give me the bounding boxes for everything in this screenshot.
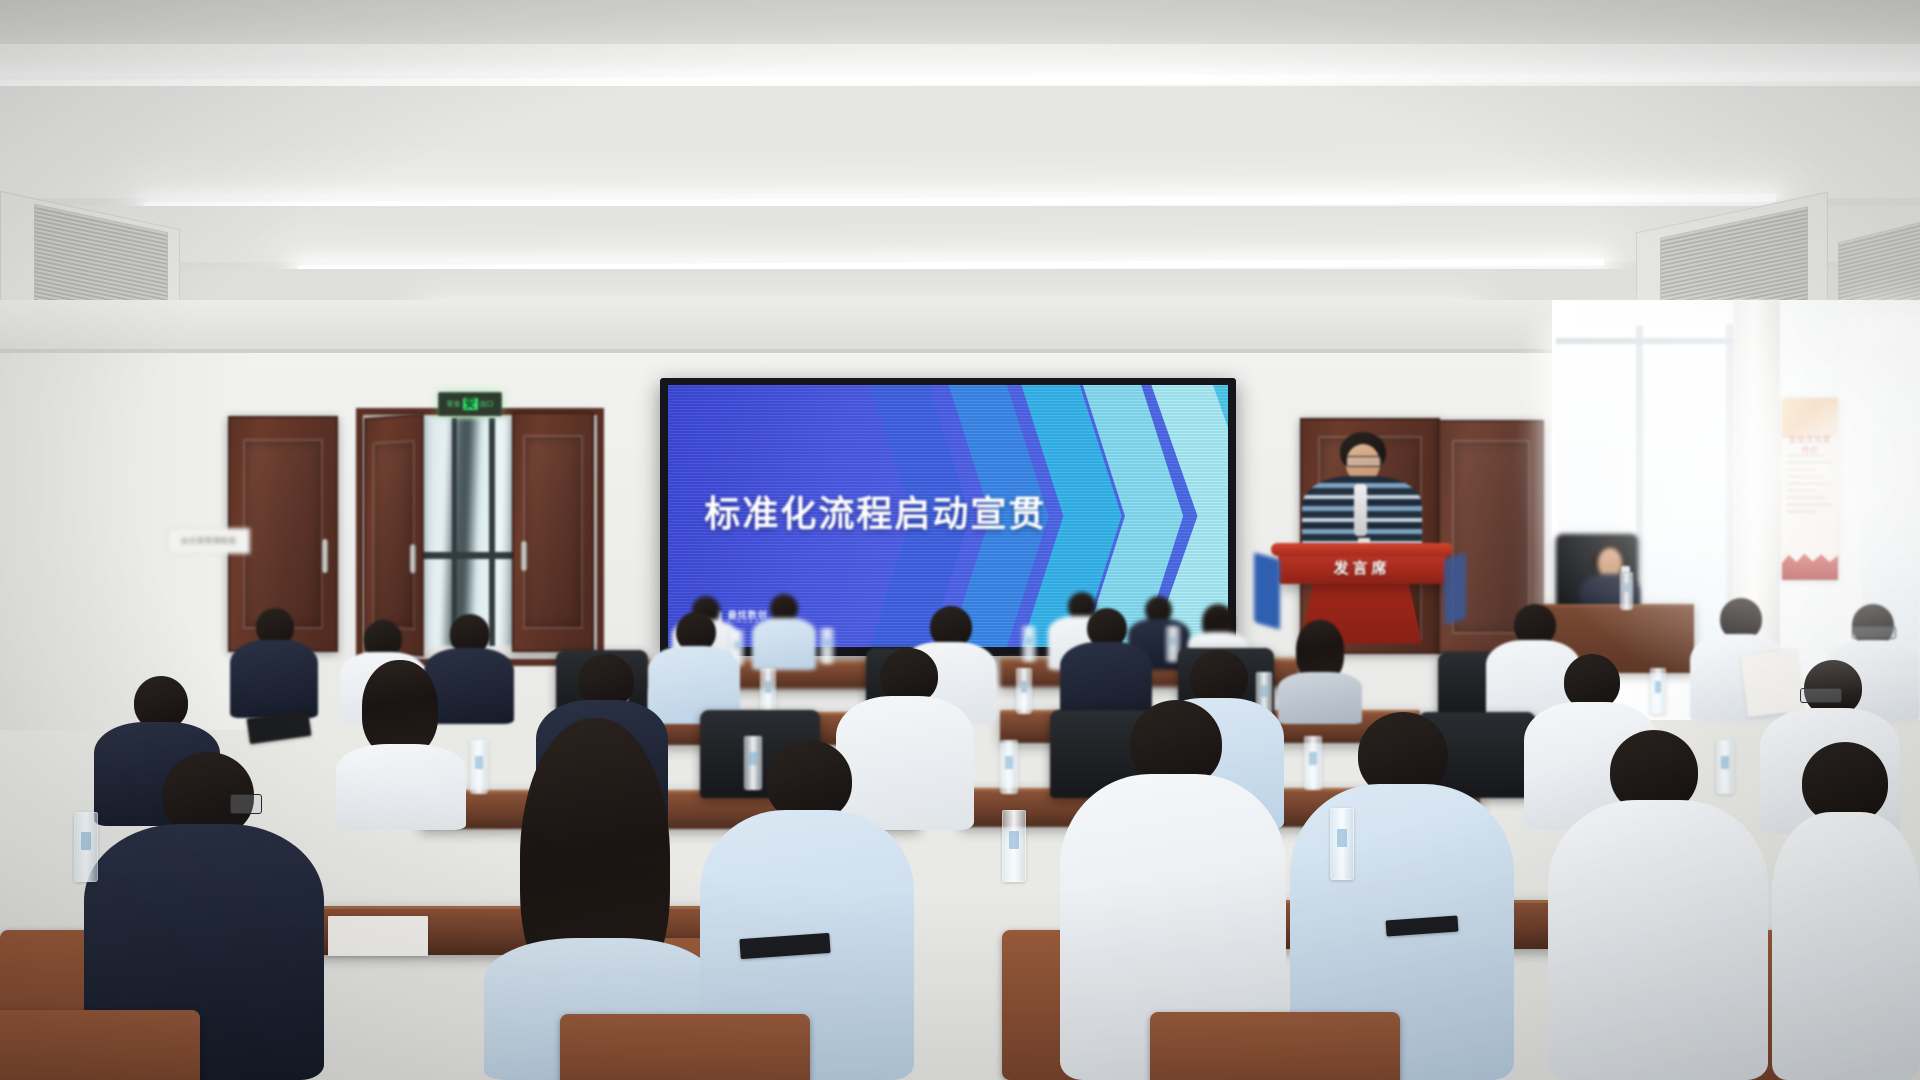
attendee-r2-c7 — [1278, 620, 1362, 724]
bottle-row1-b — [820, 628, 834, 664]
attendee-r1-c2 — [752, 594, 816, 670]
head-table-bottle — [1620, 572, 1633, 610]
poster-flag-graphic — [1782, 553, 1838, 580]
podium-top-edge — [1271, 543, 1452, 556]
bottle-row2-c — [1016, 668, 1032, 714]
corridor-mullion-v1 — [452, 418, 457, 646]
poster-line — [1787, 496, 1825, 499]
corridor-glass — [420, 418, 516, 646]
microphone-icon[interactable] — [1354, 484, 1367, 536]
attendee-torso — [336, 744, 466, 830]
poster-line — [1787, 454, 1825, 457]
foreground-chair-mid[interactable] — [560, 1014, 810, 1080]
exit-sign-right-text: 出口 — [480, 399, 494, 409]
soffit-edge — [0, 349, 1560, 353]
head-table-bottle-cap — [1621, 566, 1630, 573]
poster-line — [1787, 489, 1815, 492]
podium-side-panel-right — [1444, 553, 1466, 625]
poster-line — [1787, 503, 1833, 506]
door-left-handle[interactable] — [322, 539, 328, 573]
door-left-panel — [243, 439, 324, 629]
door-middle-right-leaf[interactable] — [512, 412, 594, 652]
ceiling-band-3 — [0, 206, 1920, 262]
attendee-glasses-icon — [230, 794, 262, 814]
ceiling-band-1 — [0, 44, 1920, 76]
bottle-row4-c — [1330, 808, 1354, 880]
poster-line — [1787, 468, 1815, 471]
door-middle-left-panel — [372, 440, 415, 630]
window-transom — [1556, 338, 1736, 344]
speaker-glasses-icon — [1346, 456, 1382, 467]
attendee-glasses-icon — [1852, 626, 1896, 639]
foreground-chair-right[interactable] — [1150, 1012, 1400, 1080]
attendee-r4-c6 — [1548, 730, 1768, 1080]
door-middle-right-handle[interactable] — [521, 541, 527, 571]
ceiling-band-2 — [0, 86, 1920, 198]
attendee-torso — [230, 640, 318, 718]
poster-line — [1787, 510, 1815, 513]
podium-side-panel-left — [1254, 552, 1280, 629]
door-middle-left-handle[interactable] — [410, 544, 416, 573]
poster-title: 企业文化宣传栏 — [1786, 434, 1833, 456]
exit-sign-glyph: 安 — [463, 398, 478, 410]
corridor-mullion-v2 — [489, 418, 495, 646]
ceiling-band-0 — [0, 0, 1920, 44]
attendee-hair — [362, 660, 438, 756]
bottle-row1-c — [1022, 626, 1036, 662]
ceiling — [0, 0, 1920, 342]
poster-header-band — [1782, 398, 1838, 438]
podium: 发言席 — [1278, 550, 1446, 584]
poster-text-lines — [1787, 454, 1833, 543]
presentation-title: 标准化流程启动宣贯 — [704, 485, 1046, 537]
emergency-exit-sign: 安全 安 出口 — [438, 392, 502, 416]
left-wall — [0, 300, 250, 730]
attendee-r3-c2 — [336, 660, 466, 830]
conference-room-scene: 安全 安 出口 会议室管理制度 企业文化宣传栏 — [0, 0, 1920, 1080]
poster-line — [1787, 482, 1833, 485]
attendee-glasses-icon — [1800, 688, 1842, 703]
attendee-r2-c1 — [230, 608, 318, 718]
wall-plaque-text: 会议室管理制度 — [181, 536, 237, 546]
attendee-torso — [1548, 800, 1768, 1080]
corridor-mullion-h — [420, 552, 516, 559]
bottle-row2-b — [760, 668, 776, 714]
paper-row4 — [328, 916, 428, 956]
bottle-row4-a — [74, 812, 98, 882]
wall-poster: 企业文化宣传栏 — [1782, 398, 1838, 580]
foreground-chair-left[interactable] — [0, 1010, 200, 1080]
door-middle-right-panel — [523, 435, 582, 629]
poster-line — [1787, 475, 1825, 478]
wall-plaque: 会议室管理制度 — [168, 528, 250, 554]
poster-line — [1787, 461, 1833, 464]
soffit-bulkhead — [0, 300, 1560, 352]
bottle-row3-c — [1000, 740, 1018, 794]
attendee-torso — [1772, 812, 1920, 1080]
bottle-row4-b — [1002, 810, 1026, 882]
podium-label: 发言席 — [1333, 557, 1390, 578]
attendee-torso — [752, 618, 816, 670]
attendee-r4-c7 — [1772, 742, 1920, 1080]
exit-sign-left-text: 安全 — [447, 399, 461, 409]
